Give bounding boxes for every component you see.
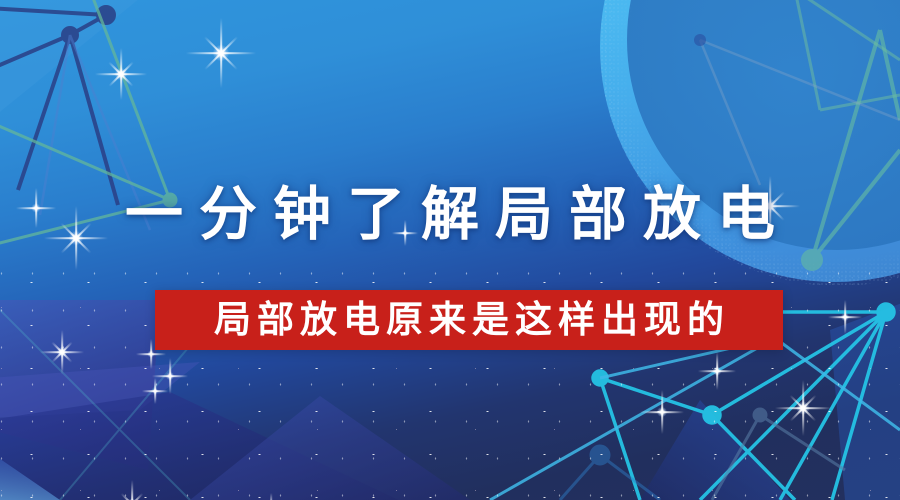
subtitle-text: 局部放电原来是这样出现的 bbox=[208, 300, 730, 340]
network-graphic-bottom-left bbox=[0, 0, 900, 500]
promo-banner: 一分钟了解局部放电 局部放电原来是这样出现的 bbox=[0, 0, 900, 500]
page-title: 一分钟了解局部放电 bbox=[0, 182, 900, 248]
subtitle-banner: 局部放电原来是这样出现的 bbox=[155, 290, 783, 350]
